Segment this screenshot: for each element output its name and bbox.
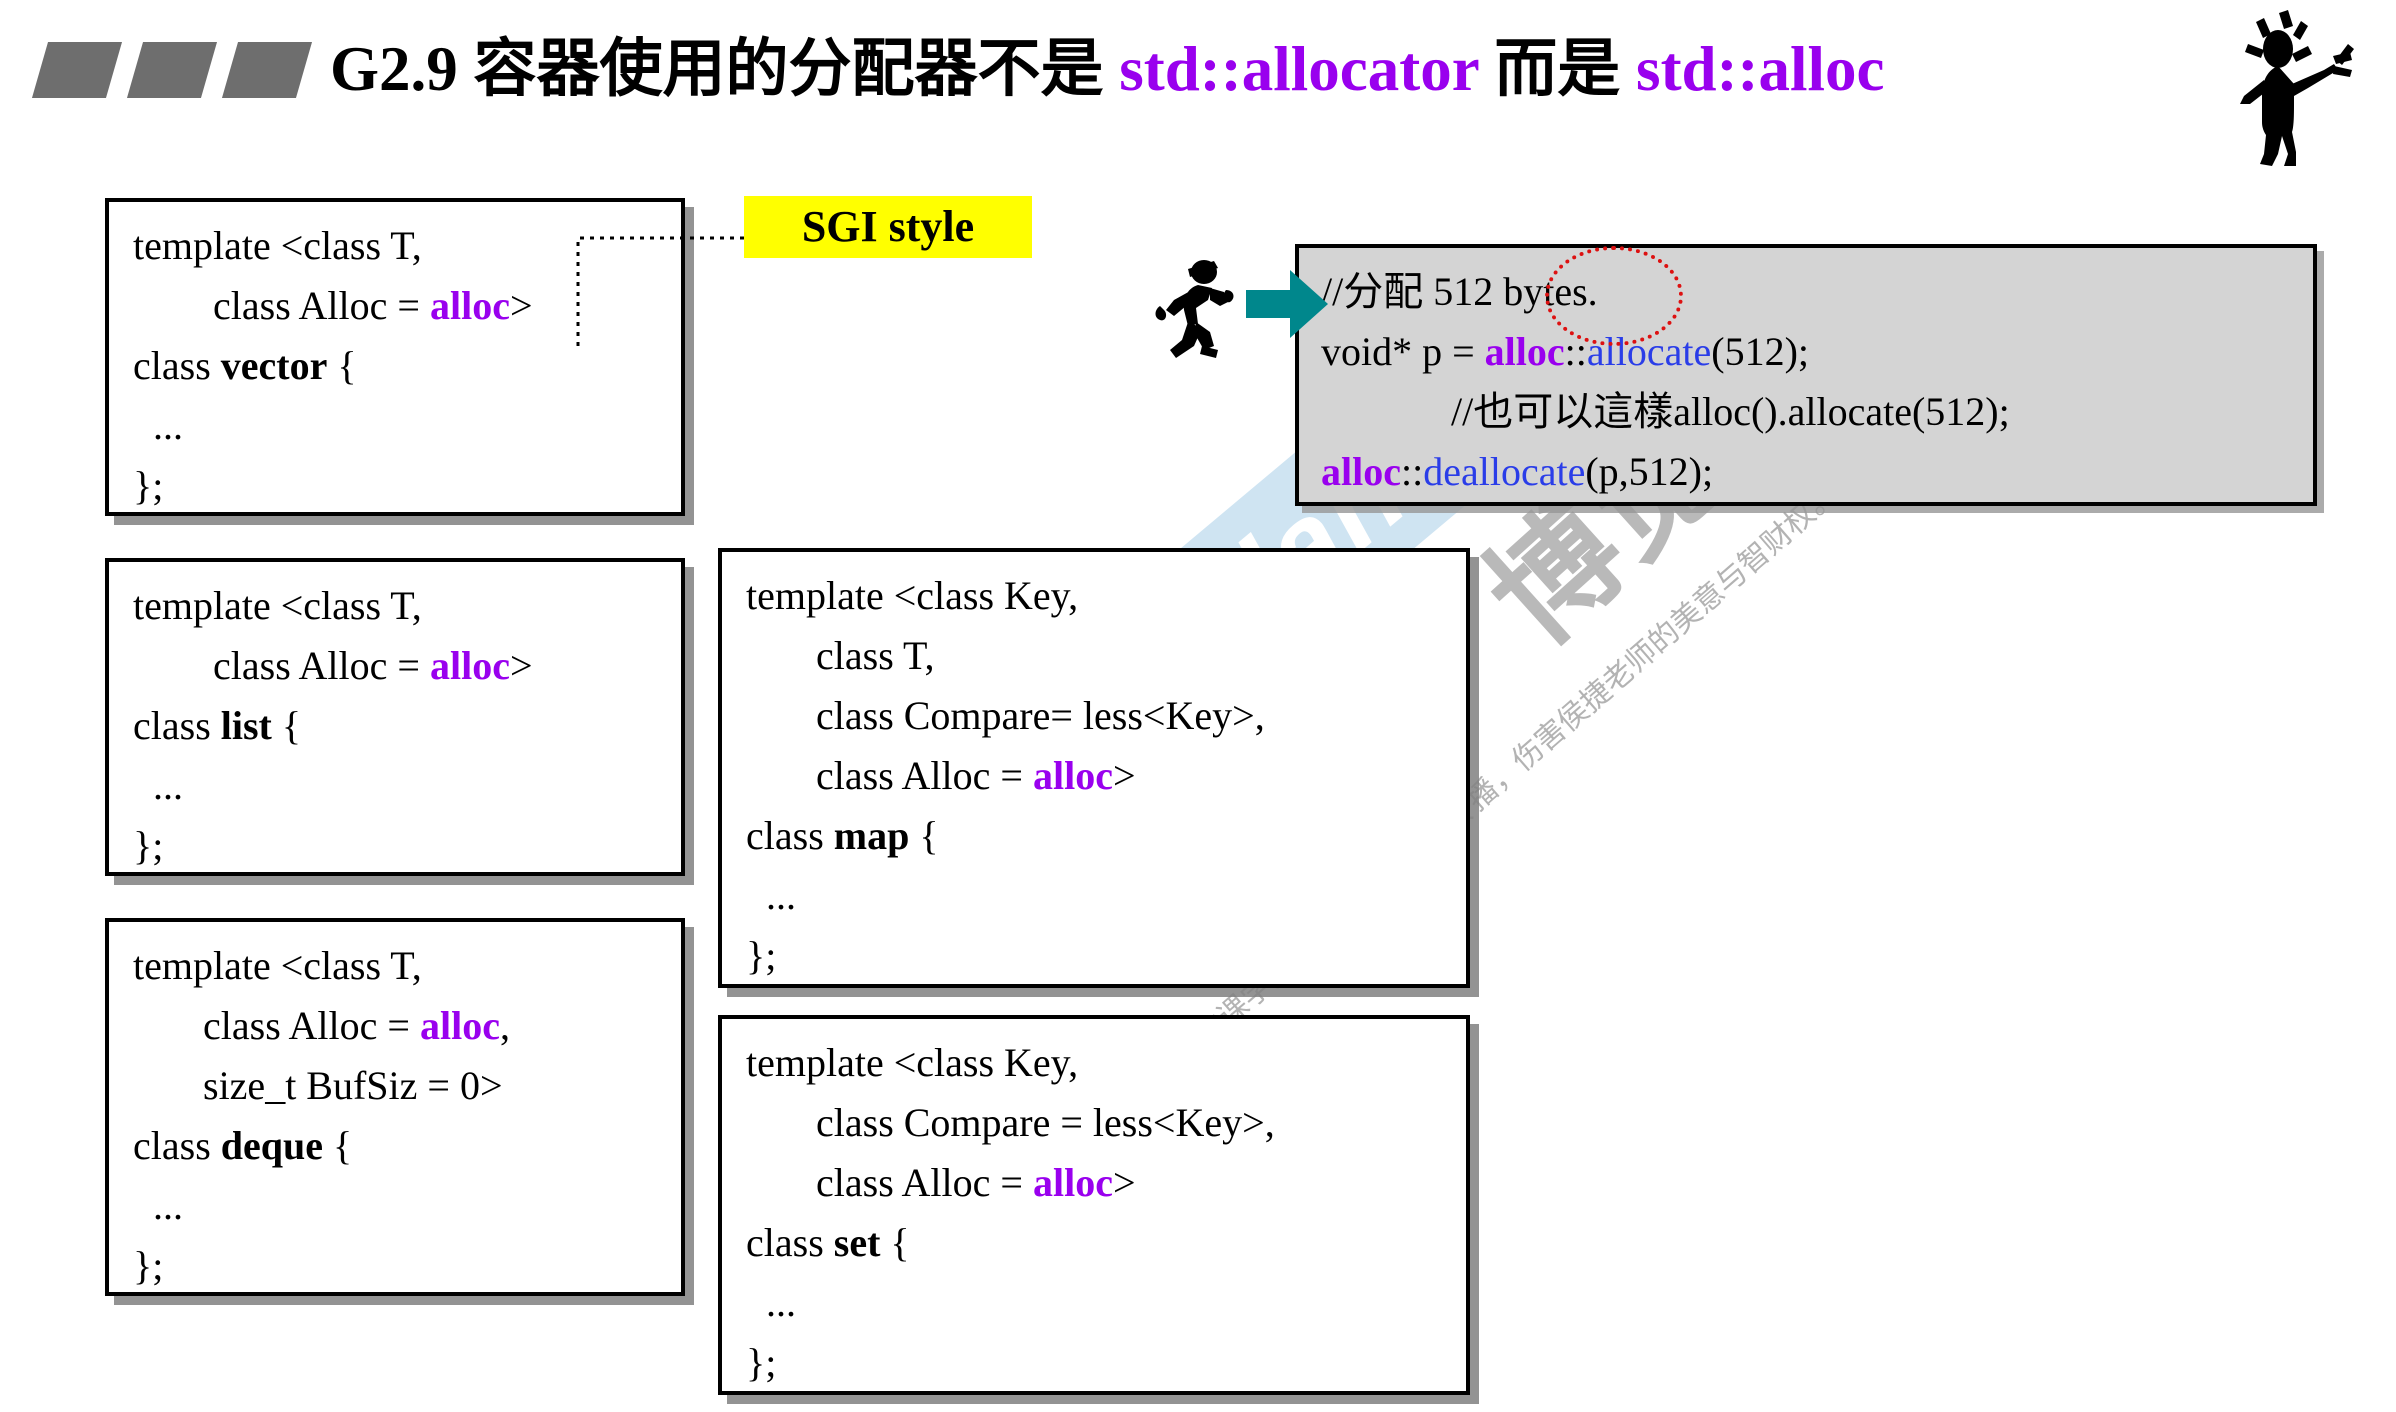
code-token: class Alloc = — [133, 643, 430, 688]
page-title-prefix: G2.9 容器使用的分配器不是 — [330, 34, 1119, 104]
code-line: class Alloc = alloc, — [133, 996, 681, 1056]
sgi-style-label: SGI style — [744, 196, 1032, 258]
code-token: template <class T, — [133, 583, 422, 628]
code-token: { — [272, 703, 301, 748]
code-token: (512); — [1711, 329, 1809, 374]
code-token: { — [327, 343, 356, 388]
code-token: > — [510, 643, 533, 688]
code-token: size_t BufSiz = 0> — [133, 1063, 503, 1108]
code-token: { — [909, 813, 938, 858]
code-line: class map { — [746, 806, 1466, 866]
code-token: > — [510, 283, 533, 328]
code-token: template <class Key, — [746, 1040, 1078, 1085]
code-token: class Compare= less<Key>, — [746, 693, 1265, 738]
code-token: }; — [133, 463, 163, 508]
code-line: template <class Key, — [746, 1033, 1466, 1093]
alloc-token: alloc — [420, 1003, 500, 1048]
cheering-stick-figure-icon — [2238, 4, 2388, 172]
code-token: , — [500, 1003, 510, 1048]
code-line: }; — [133, 1236, 681, 1296]
code-token: class — [133, 1123, 221, 1168]
code-line: class Compare= less<Key>, — [746, 686, 1466, 746]
class-name-token: vector — [221, 343, 328, 388]
code-token: ... — [746, 873, 796, 918]
code-line: template <class T, — [133, 576, 681, 636]
code-token: { — [323, 1123, 352, 1168]
code-line: void* p = alloc::allocate(512); — [1321, 322, 2313, 382]
code-token: template <class T, — [133, 223, 422, 268]
class-name-token: list — [221, 703, 272, 748]
alloc-token: alloc — [1485, 329, 1565, 374]
code-line: class Alloc = alloc> — [746, 1153, 1466, 1213]
page-title-accent-alloc: std::alloc — [1636, 34, 1884, 104]
slanted-square-bullet-icon — [32, 42, 122, 98]
list-template-box: template <class T, class Alloc = alloc>c… — [105, 558, 685, 876]
code-token: //也可以這樣alloc().allocate(512); — [1321, 389, 2010, 434]
code-line: class Compare = less<Key>, — [746, 1093, 1466, 1153]
code-line: template <class Key, — [746, 566, 1466, 626]
code-token: > — [1113, 753, 1136, 798]
code-token: }; — [133, 823, 163, 868]
code-line: }; — [133, 456, 681, 516]
code-token: class Alloc = — [746, 1160, 1033, 1205]
code-token: ... — [746, 1280, 796, 1325]
code-line: //分配 512 bytes. — [1321, 262, 2313, 322]
code-line: ... — [746, 866, 1466, 926]
class-name-token: set — [834, 1220, 881, 1265]
code-line: class T, — [746, 626, 1466, 686]
code-token: > — [1113, 1160, 1136, 1205]
code-line: alloc::deallocate(p,512); — [1321, 442, 2313, 502]
code-line: }; — [746, 1333, 1466, 1393]
alloc-token: alloc — [1321, 449, 1401, 494]
code-token: }; — [133, 1243, 163, 1288]
code-token: template <class Key, — [746, 573, 1078, 618]
header-bullet-group — [22, 42, 302, 98]
function-token: deallocate — [1423, 449, 1585, 494]
slanted-square-bullet-icon — [222, 42, 312, 98]
code-token: class Alloc = — [133, 1003, 420, 1048]
dotted-leader-line — [572, 232, 752, 352]
code-token: (p,512); — [1585, 449, 1713, 494]
code-line: class Alloc = alloc> — [133, 636, 681, 696]
code-token: class T, — [746, 633, 935, 678]
code-token: }; — [746, 1340, 776, 1385]
class-name-token: map — [834, 813, 910, 858]
code-line: //也可以這樣alloc().allocate(512); — [1321, 382, 2313, 442]
code-line: class set { — [746, 1213, 1466, 1273]
running-stick-figure-icon — [1152, 252, 1244, 362]
code-line: class list { — [133, 696, 681, 756]
page-title-accent-allocator: std::allocator — [1119, 34, 1478, 104]
class-name-token: deque — [221, 1123, 323, 1168]
code-line: class deque { — [133, 1116, 681, 1176]
code-line: ... — [133, 396, 681, 456]
alloc-token: alloc — [430, 643, 510, 688]
code-token: class — [133, 703, 221, 748]
code-token: class Alloc = — [746, 753, 1033, 798]
code-token: template <class T, — [133, 943, 422, 988]
code-line: }; — [746, 926, 1466, 986]
code-token: ... — [133, 1183, 183, 1228]
alloc-usage-code-panel: //分配 512 bytes.void* p = alloc::allocate… — [1295, 244, 2317, 506]
deque-template-box: template <class T, class Alloc = alloc, … — [105, 918, 685, 1296]
code-token: }; — [746, 933, 776, 978]
code-token: class — [133, 343, 221, 388]
code-line: template <class T, — [133, 936, 681, 996]
code-token: ... — [133, 763, 183, 808]
alloc-token: alloc — [430, 283, 510, 328]
alloc-token: alloc — [1033, 1160, 1113, 1205]
code-line: size_t BufSiz = 0> — [133, 1056, 681, 1116]
red-dotted-ellipse-annotation — [1545, 246, 1683, 346]
code-token: ... — [133, 403, 183, 448]
code-token: { — [880, 1220, 909, 1265]
code-line: ... — [133, 1176, 681, 1236]
code-token: class Alloc = — [133, 283, 430, 328]
code-line: ... — [746, 1273, 1466, 1333]
alloc-token: alloc — [1033, 753, 1113, 798]
code-token: class Compare = less<Key>, — [746, 1100, 1275, 1145]
code-token: class — [746, 1220, 834, 1265]
page-title: G2.9 容器使用的分配器不是 std::allocator 而是 std::a… — [330, 24, 2200, 114]
map-template-box: template <class Key, class T, class Comp… — [718, 548, 1470, 988]
set-template-box: template <class Key, class Compare = les… — [718, 1015, 1470, 1395]
page-title-middle: 而是 — [1479, 34, 1637, 104]
code-line: }; — [133, 816, 681, 876]
slanted-square-bullet-icon — [127, 42, 217, 98]
code-line: ... — [133, 756, 681, 816]
code-token: void* p = — [1321, 329, 1485, 374]
right-arrow-icon — [1246, 268, 1328, 340]
code-token: :: — [1401, 449, 1423, 494]
code-token: class — [746, 813, 834, 858]
code-line: class Alloc = alloc> — [746, 746, 1466, 806]
